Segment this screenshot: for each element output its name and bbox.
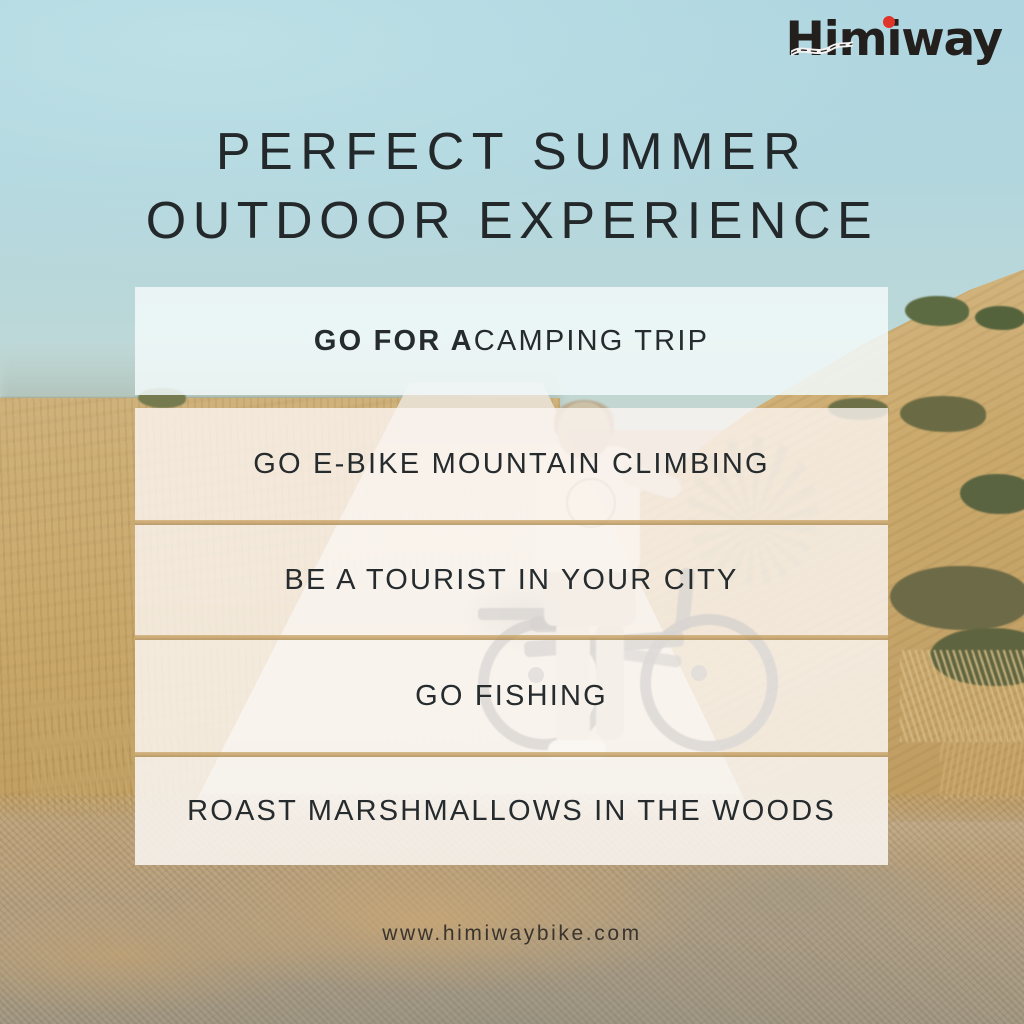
list-item-label: BE A TOURIST IN YOUR CITY	[284, 564, 738, 597]
footer-website[interactable]: www.himiwaybike.com	[0, 922, 1024, 946]
page-title: PERFECT SUMMER OUTDOOR EXPERIENCE	[0, 118, 1024, 255]
list-item-label: GO FISHING	[415, 680, 608, 713]
band-gap-horizon	[135, 395, 888, 408]
headline-line-2: OUTDOOR EXPERIENCE	[0, 187, 1024, 256]
list-item[interactable]: GO E-BIKE MOUNTAIN CLIMBING	[135, 408, 888, 520]
list-item-label: ROAST MARSHMALLOWS IN THE WOODS	[187, 795, 836, 828]
list-item[interactable]: GO FOR A CAMPING TRIP	[135, 287, 888, 395]
himiway-logo[interactable]: Himiway	[786, 16, 1002, 63]
shrub-icon	[905, 296, 969, 326]
shrub-icon	[975, 306, 1024, 330]
shrub-icon	[900, 396, 986, 432]
list-item-label: GO E-BIKE MOUNTAIN CLIMBING	[253, 448, 769, 481]
list-item[interactable]: GO FISHING	[135, 640, 888, 752]
headline-line-1: PERFECT SUMMER	[216, 123, 808, 181]
list-item-label-light: CAMPING TRIP	[474, 325, 709, 358]
poster-root: Himiway PERFECT SUMMER OUTDOOR EXPERIENC…	[0, 0, 1024, 1024]
list-item[interactable]: ROAST MARSHMALLOWS IN THE WOODS	[135, 757, 888, 865]
list-item[interactable]: BE A TOURIST IN YOUR CITY	[135, 525, 888, 635]
list-item-label-strong: GO FOR A	[314, 325, 474, 358]
logo-red-dot-icon	[883, 16, 895, 28]
activity-list: GO FOR A CAMPING TRIP GO E-BIKE MOUNTAIN…	[135, 287, 888, 865]
